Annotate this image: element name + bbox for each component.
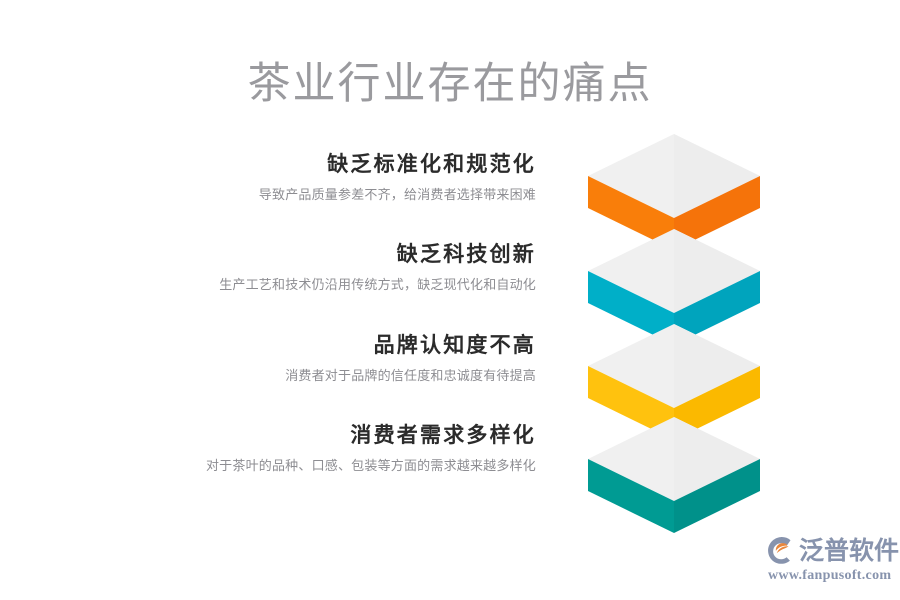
- logo-website-url: www.fanpusoft.com: [768, 567, 890, 584]
- pain-point-description-3: 消费者对于品牌的信任度和忠诚度有待提高: [150, 366, 536, 385]
- pain-point-text-4: 消费者需求多样化 对于茶叶的品种、口感、包装等方面的需求越来越多样化: [150, 421, 536, 475]
- logo-row: 泛普软件: [766, 536, 899, 566]
- pain-point-description-2: 生产工艺和技术仍沿用传统方式，缺乏现代化和自动化: [150, 275, 536, 294]
- pain-point-heading-1: 缺乏标准化和规范化: [150, 150, 536, 180]
- slide-canvas: 茶业行业存在的痛点 缺乏标准化和规范化 导致产品质量参差不齐，给消费者选择带来困…: [0, 0, 900, 600]
- pain-point-text-1: 缺乏标准化和规范化 导致产品质量参差不齐，给消费者选择带来困难: [150, 150, 536, 204]
- pain-point-text-2: 缺乏科技创新 生产工艺和技术仍沿用传统方式，缺乏现代化和自动化: [150, 240, 536, 294]
- pain-point-heading-4: 消费者需求多样化: [150, 421, 536, 451]
- stacked-boxes-graphic: [588, 134, 760, 524]
- pain-point-description-1: 导致产品质量参差不齐，给消费者选择带来困难: [150, 185, 536, 204]
- pain-point-heading-2: 缺乏科技创新: [150, 240, 536, 270]
- isometric-box-4: [588, 417, 760, 533]
- company-logo: 泛普软件 www.fanpusoft.com: [766, 536, 890, 584]
- fanpu-logo-icon: [766, 536, 796, 566]
- pain-point-heading-3: 品牌认知度不高: [150, 331, 536, 361]
- page-title: 茶业行业存在的痛点: [0, 57, 900, 111]
- pain-point-description-4: 对于茶叶的品种、口感、包装等方面的需求越来越多样化: [150, 456, 536, 475]
- logo-company-name: 泛普软件: [799, 536, 899, 566]
- pain-point-text-3: 品牌认知度不高 消费者对于品牌的信任度和忠诚度有待提高: [150, 331, 536, 385]
